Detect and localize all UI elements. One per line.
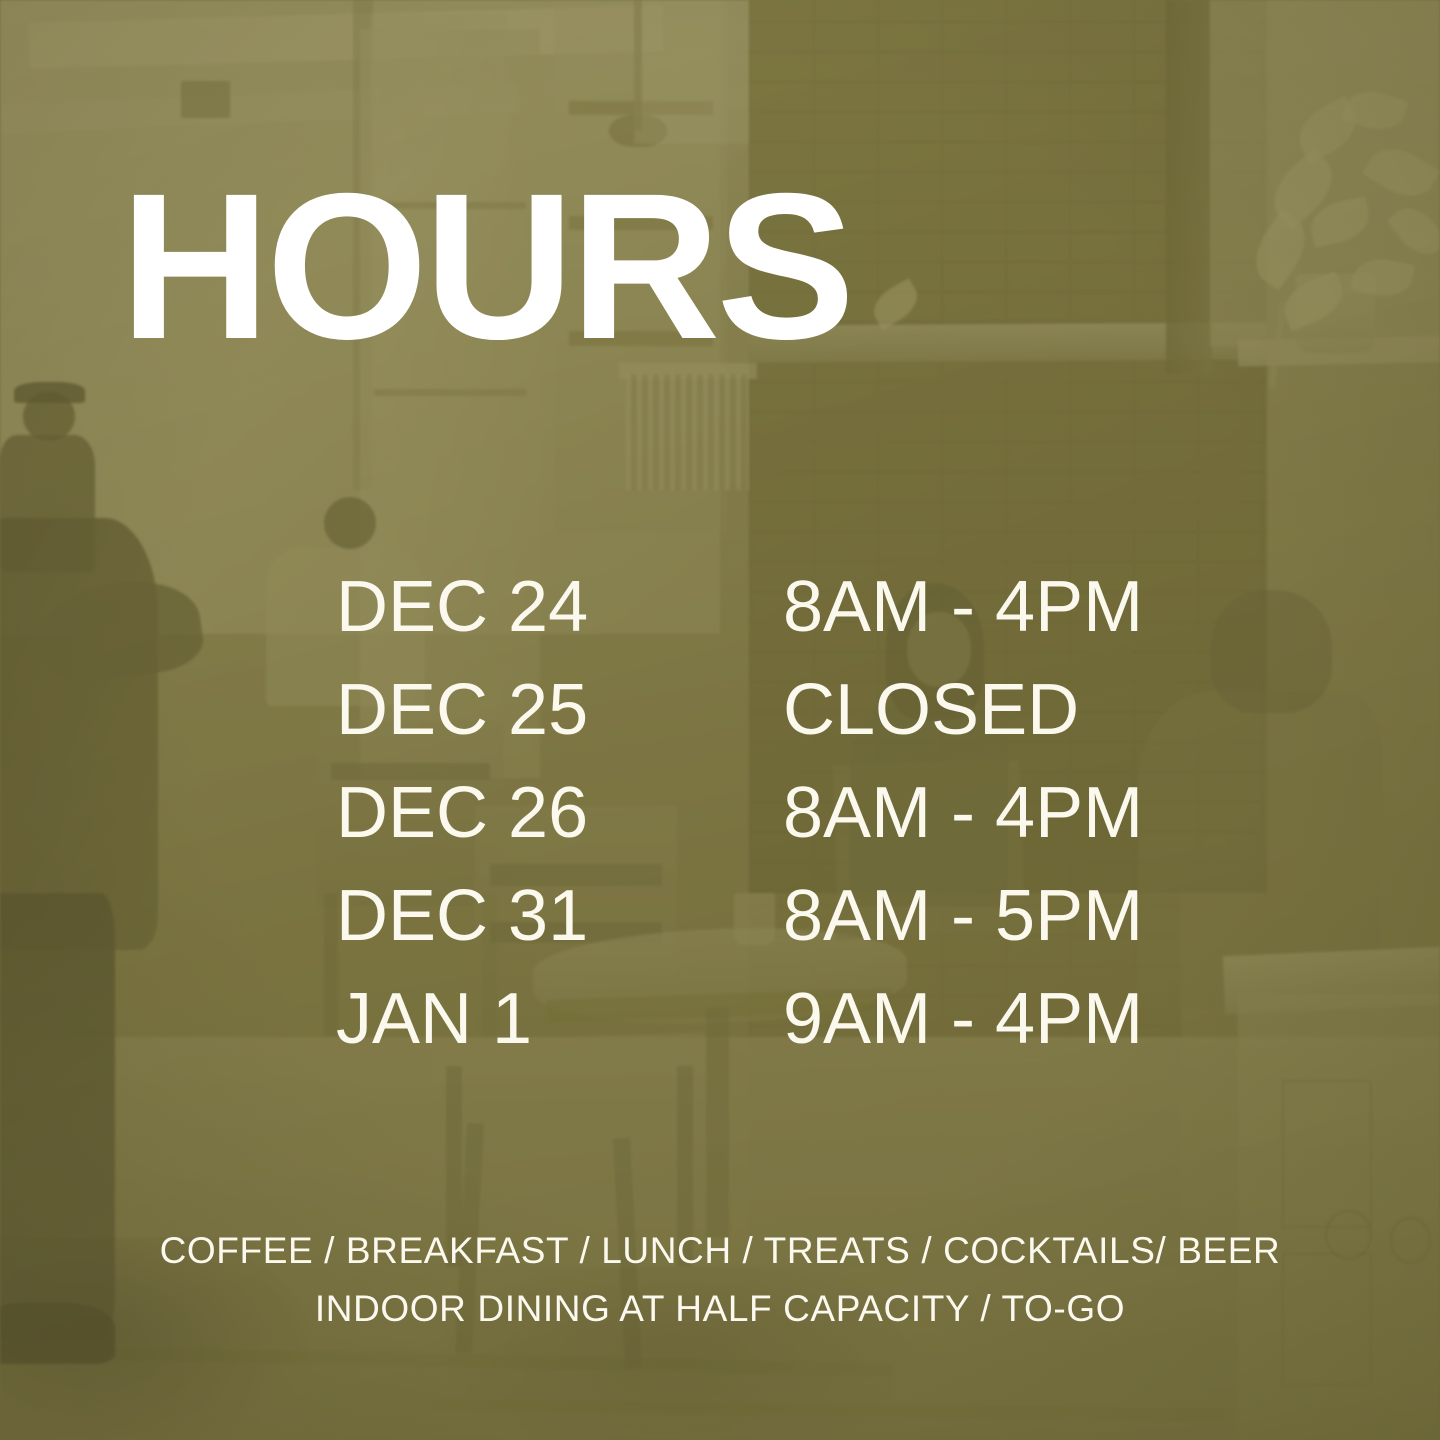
footer-text: COFFEE / BREAKFAST / LUNCH / TREATS / CO… bbox=[0, 1222, 1440, 1338]
footer-dining-info-line: INDOOR DINING AT HALF CAPACITY / TO-GO bbox=[0, 1280, 1440, 1338]
hours-row-time: 9AM - 4PM bbox=[783, 968, 1143, 1071]
hours-row-time: CLOSED bbox=[783, 659, 1143, 762]
hours-row-day: DEC 31 bbox=[336, 865, 783, 968]
hours-row-day: DEC 26 bbox=[336, 762, 783, 865]
hours-row-time: 8AM - 4PM bbox=[783, 762, 1143, 865]
hours-row-time: 8AM - 4PM bbox=[783, 556, 1143, 659]
hours-poster: HOURS DEC 24 8AM - 4PM DEC 25 CLOSED DEC… bbox=[0, 0, 1440, 1440]
footer-offerings-line: COFFEE / BREAKFAST / LUNCH / TREATS / CO… bbox=[0, 1222, 1440, 1280]
page-title: HOURS bbox=[120, 163, 851, 371]
hours-row-day: DEC 25 bbox=[336, 659, 783, 762]
hours-table: DEC 24 8AM - 4PM DEC 25 CLOSED DEC 26 8A… bbox=[336, 556, 1143, 1071]
hours-row-day: DEC 24 bbox=[336, 556, 783, 659]
poster-content: HOURS DEC 24 8AM - 4PM DEC 25 CLOSED DEC… bbox=[0, 0, 1440, 1440]
hours-row-time: 8AM - 5PM bbox=[783, 865, 1143, 968]
hours-row-day: JAN 1 bbox=[336, 968, 783, 1071]
